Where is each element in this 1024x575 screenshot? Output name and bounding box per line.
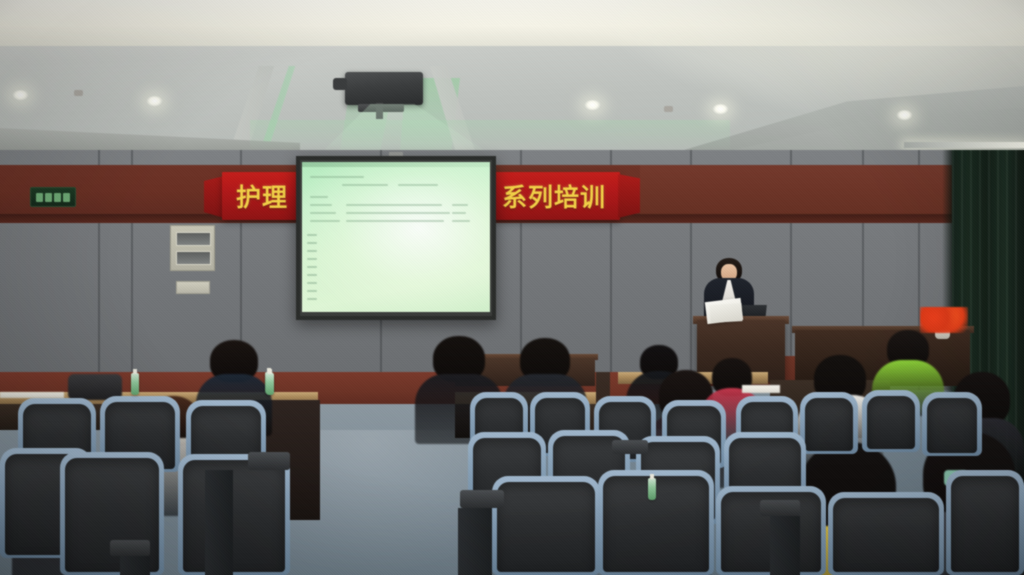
seat-armrest-2[interactable]: [460, 490, 504, 508]
seat-row4-8-back[interactable]: [951, 476, 1019, 572]
slide-side-item: [307, 266, 317, 268]
ceiling-green-tint: [250, 120, 730, 152]
slide-text-row: [310, 176, 364, 178]
slide-side-item: [307, 290, 317, 292]
slide-side-item: [307, 274, 317, 276]
slide-text-row: [310, 220, 340, 222]
ceiling-downlight: [896, 110, 913, 121]
slide-side-item: [307, 298, 317, 300]
seat-row2-6-back[interactable]: [805, 398, 853, 451]
slide-text-row: [452, 204, 468, 206]
slide-side-item: [307, 242, 317, 244]
projector-mount: [376, 103, 383, 119]
water-bottle-cap: [133, 369, 137, 374]
banner-tail-right: [618, 174, 640, 218]
water-bottle: [648, 478, 656, 500]
slide-text-row: [398, 184, 438, 186]
banner-right: 系列培训: [494, 172, 620, 220]
slide-text-row: [310, 212, 336, 214]
slide-side-item: [307, 282, 317, 284]
seat-armrest-4[interactable]: [760, 500, 800, 516]
exit-sign-glyph: [54, 193, 61, 202]
water-bottle: [266, 373, 274, 395]
flower-arrangement: [920, 307, 968, 333]
water-bottle: [131, 373, 139, 395]
banner-left-text: 护理: [236, 178, 288, 214]
banner-right-text: 系列培训: [502, 178, 606, 214]
slide-text-row: [310, 196, 328, 198]
slide-text-row: [452, 220, 470, 222]
seat-row4-7-back[interactable]: [833, 498, 939, 572]
seat-row2-7-back[interactable]: [867, 396, 915, 449]
water-bottle-cap: [650, 474, 654, 479]
printed-handout: [742, 385, 780, 393]
presenter-papers-sheet: [710, 303, 743, 323]
ceiling-vent: [664, 106, 673, 112]
seat-armrest-5[interactable]: [612, 440, 648, 454]
seat-row4-3-back[interactable]: [183, 460, 285, 572]
slide-side-item: [307, 234, 317, 236]
exit-sign-glyph: [45, 193, 52, 202]
fluorescent-strip-light: [904, 142, 1024, 148]
seat-pedestal-1: [205, 470, 233, 575]
slide-text-row: [310, 204, 332, 206]
auditorium-photo: 护理 系列培训 Nu: [0, 0, 1024, 575]
ceiling-downlight: [584, 100, 601, 111]
slide-text-row: [346, 204, 442, 206]
banner-tail-left: [204, 176, 224, 218]
ceiling-vent: [74, 90, 83, 96]
exit-sign-glyph: [63, 193, 70, 202]
emergency-exit-sign: [30, 187, 76, 207]
wall-panel-vent: [176, 251, 211, 265]
slide-title-bar: [302, 162, 490, 167]
slide-side-item: [307, 250, 317, 252]
ceiling-downlight: [12, 90, 29, 101]
printed-handout: [0, 392, 64, 398]
projector-icon: [345, 72, 423, 105]
seat-row4-4-back[interactable]: [497, 482, 595, 572]
ceiling-downlight: [146, 96, 163, 107]
ceiling-downlight: [712, 104, 729, 115]
seat-armrest-3[interactable]: [110, 540, 150, 556]
wall-control-panel: [170, 225, 215, 271]
slide-side-item: [307, 258, 317, 260]
slide-text-row: [346, 220, 444, 222]
slide-text-row: [342, 184, 388, 186]
wall-panel-vent: [176, 232, 211, 246]
projection-screen: [302, 162, 490, 312]
slide-text-row: [346, 212, 450, 214]
seat-pedestal-2: [458, 508, 492, 575]
seat-pedestal-4: [770, 516, 800, 575]
seat-row2-8-back[interactable]: [927, 398, 977, 453]
water-bottle-cap: [268, 369, 272, 374]
seat-armrest-1[interactable]: [248, 452, 290, 470]
seat-row4-5-back[interactable]: [603, 476, 709, 572]
wall-switch-plate: [176, 281, 210, 294]
exit-sign-glyph: [36, 193, 43, 202]
seat-pedestal-3: [120, 556, 150, 575]
slide-text-row: [452, 212, 466, 214]
